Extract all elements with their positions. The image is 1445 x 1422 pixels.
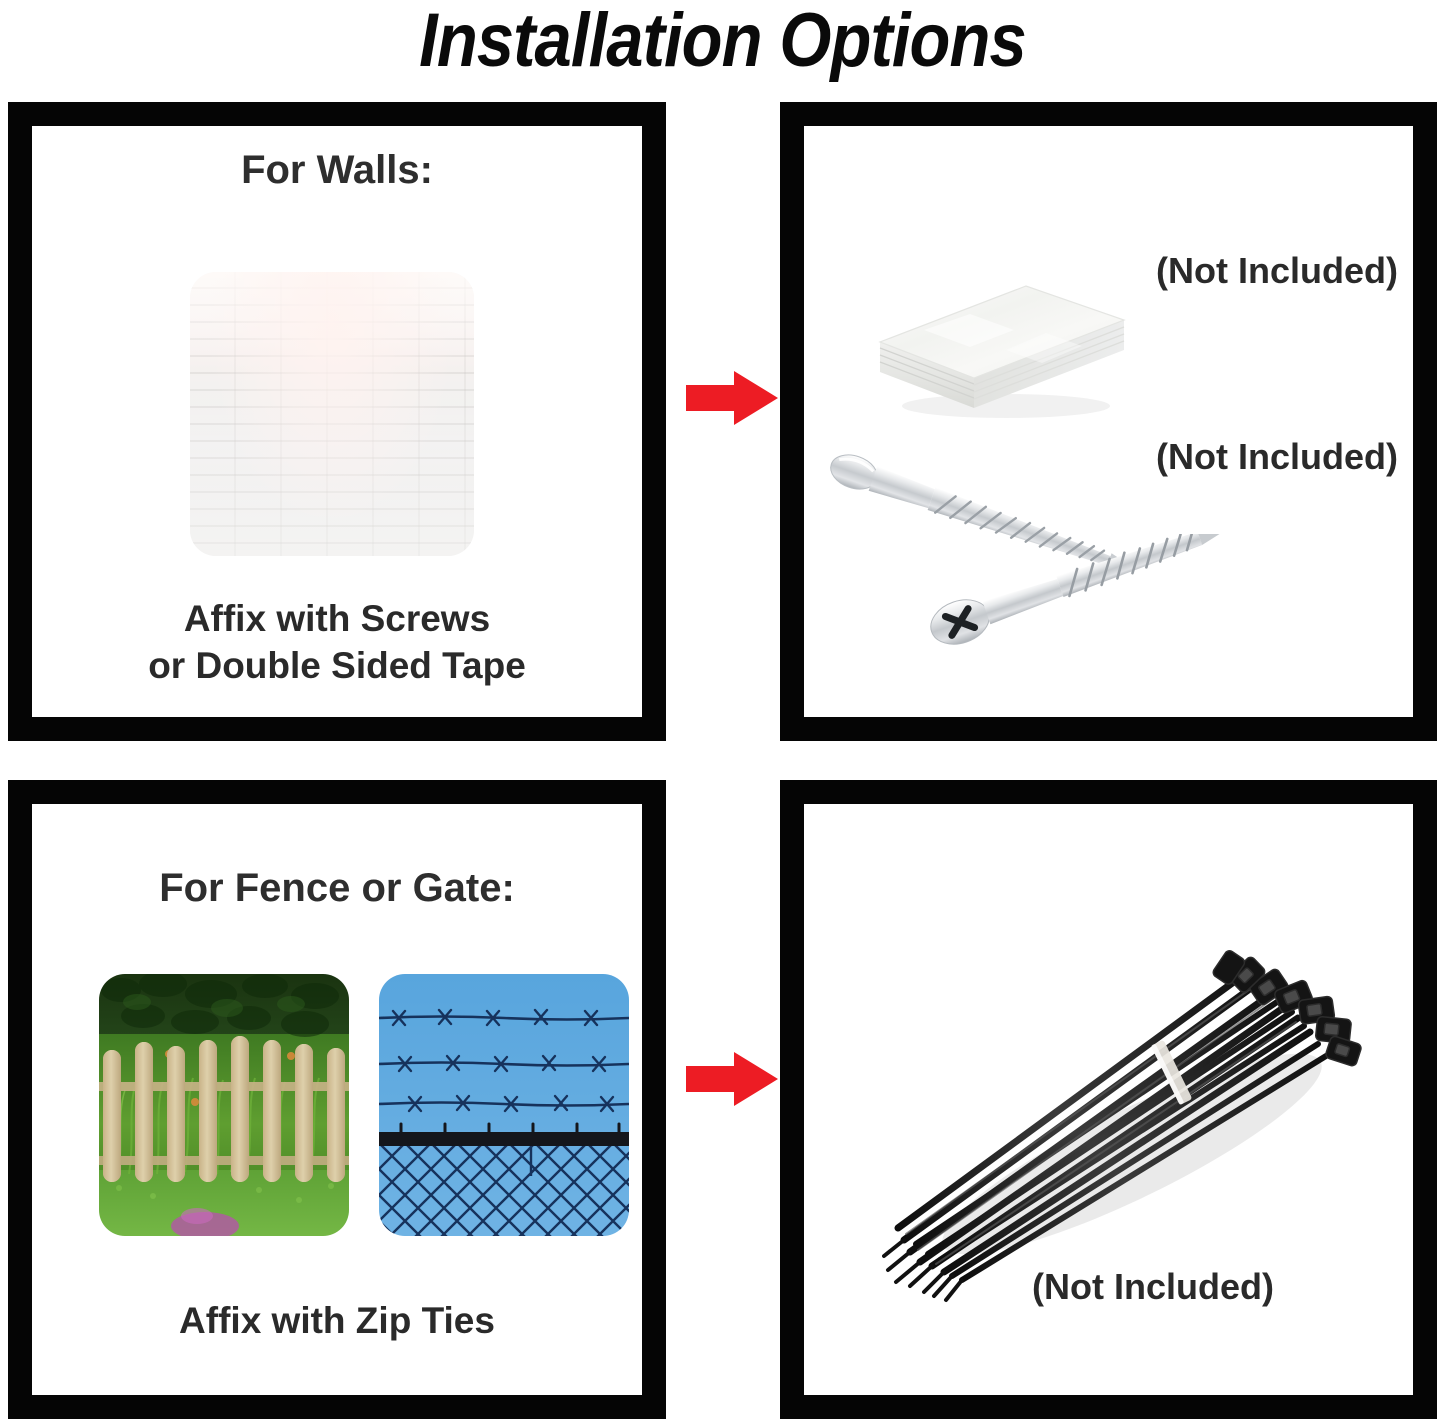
screw-icon-lower: [916, 534, 1252, 656]
brick-highlight: [190, 272, 474, 556]
for-walls-caption-line2: or Double Sided Tape: [32, 643, 642, 690]
red-right-arrow-icon-bottom: [686, 1052, 778, 1106]
panel-for-fence-content: For Fence or Gate:: [32, 804, 642, 1395]
for-walls-heading: For Walls:: [32, 148, 642, 193]
tape-not-included-label: (Not Included): [1156, 250, 1398, 292]
white-brick-wall-swatch: [190, 272, 474, 556]
ziptie-not-included-label: (Not Included): [1032, 1266, 1274, 1308]
wooden-picket-fence-photo: [99, 974, 349, 1236]
panel-fence-hardware: (Not Included): [780, 780, 1437, 1419]
page-title: Installation Options: [87, 0, 1359, 83]
panel-for-fence-or-gate: For Fence or Gate:: [8, 780, 666, 1419]
panel-for-walls-content: For Walls: Affix with Screws or Double S…: [32, 126, 642, 717]
for-fence-caption: Affix with Zip Ties: [32, 1298, 642, 1345]
chain-link-barbed-wire-fence-photo: [379, 974, 629, 1236]
for-walls-caption-line1: Affix with Screws: [32, 596, 642, 643]
black-zip-ties-bundle: [882, 914, 1386, 1304]
screws-not-included-label: (Not Included): [1156, 436, 1398, 478]
red-right-arrow-icon-top: [686, 371, 778, 425]
for-fence-heading: For Fence or Gate:: [32, 866, 642, 911]
double-sided-tape-stack: [866, 230, 1134, 426]
panel-for-walls: For Walls: Affix with Screws or Double S…: [8, 102, 666, 741]
panel-wall-hardware-content: (Not Included): [804, 126, 1413, 717]
panel-fence-hardware-content: (Not Included): [804, 804, 1413, 1395]
panel-wall-hardware: (Not Included): [780, 102, 1437, 741]
